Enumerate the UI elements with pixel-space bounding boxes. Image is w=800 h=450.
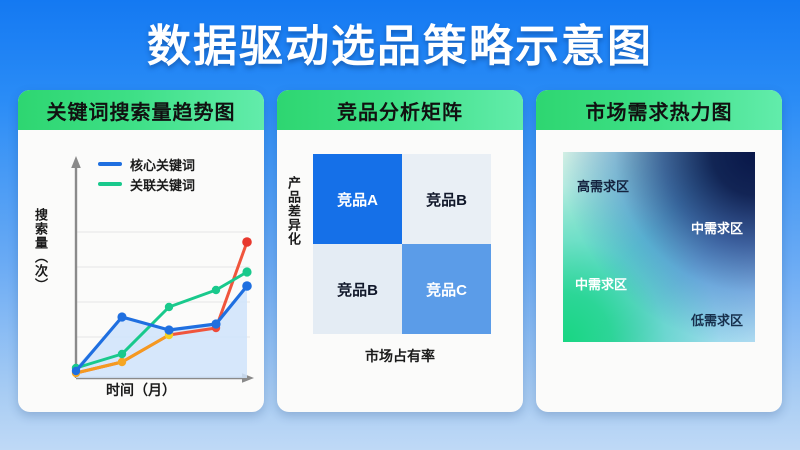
line-chart: 核心关键词 关联关键词 搜索量（次） 时间（月）	[18, 130, 264, 412]
legend-swatch-related-icon	[98, 182, 122, 186]
chart-y-axis-label: 搜索量（次）	[32, 208, 50, 292]
matrix-y-axis-label: 产品差异化	[285, 176, 303, 246]
page-title: 数据驱动选品策略示意图	[0, 10, 800, 74]
chart-legend: 核心关键词 关联关键词	[98, 154, 195, 194]
matrix-cell-top-left-label: 竞品A	[337, 189, 378, 210]
matrix-chart: 竞品A 竞品B 竞品B 竞品C 产品差异化 市场占有率	[277, 130, 523, 412]
heatmap-label-medium-demand-left: 中需求区	[575, 274, 627, 293]
card-demand-heatmap-header: 市场需求热力图	[536, 90, 782, 130]
cards-row: 关键词搜索量趋势图	[18, 90, 782, 412]
card-demand-heatmap: 市场需求热力图 高需求区 中需求区 中需求区 低需求区	[536, 90, 782, 412]
legend-label-related: 关联关键词	[130, 175, 195, 194]
heatmap-label-low-demand: 低需求区	[691, 310, 743, 329]
legend-item-core: 核心关键词	[98, 154, 195, 174]
matrix-grid: 竞品A 竞品B 竞品B 竞品C	[313, 154, 491, 334]
legend-label-core: 核心关键词	[130, 155, 195, 174]
card-keyword-trend-header: 关键词搜索量趋势图	[18, 90, 264, 130]
card-demand-heatmap-body: 高需求区 中需求区 中需求区 低需求区	[536, 130, 782, 412]
card-keyword-trend: 关键词搜索量趋势图	[18, 90, 264, 412]
card-competitor-matrix: 竞品分析矩阵 竞品A 竞品B 竞品B 竞品C 产	[277, 90, 523, 412]
chart-area-fill	[76, 286, 247, 378]
heatmap-surface: 高需求区 中需求区 中需求区 低需求区	[563, 152, 755, 342]
matrix-cell-top-left[interactable]: 竞品A	[313, 154, 402, 244]
matrix-x-axis-label: 市场占有率	[277, 346, 523, 366]
matrix-cell-bottom-right[interactable]: 竞品C	[402, 244, 491, 334]
heatmap-label-medium-demand-right: 中需求区	[691, 218, 743, 237]
card-keyword-trend-body: 核心关键词 关联关键词 搜索量（次） 时间（月）	[18, 130, 264, 412]
card-competitor-matrix-body: 竞品A 竞品B 竞品B 竞品C 产品差异化 市场占有率	[277, 130, 523, 412]
card-competitor-matrix-header: 竞品分析矩阵	[277, 90, 523, 130]
heatmap-chart: 高需求区 中需求区 中需求区 低需求区	[536, 130, 782, 412]
legend-item-related: 关联关键词	[98, 174, 195, 194]
chart-x-axis-label: 时间（月）	[18, 380, 264, 400]
matrix-cell-bottom-left-label: 竞品B	[337, 279, 378, 300]
matrix-cell-bottom-right-label: 竞品C	[426, 279, 467, 300]
matrix-cell-bottom-left[interactable]: 竞品B	[313, 244, 402, 334]
matrix-cell-top-right-label: 竞品B	[426, 189, 467, 210]
matrix-cell-top-right[interactable]: 竞品B	[402, 154, 491, 244]
heatmap-label-high-demand: 高需求区	[577, 176, 629, 195]
legend-swatch-core-icon	[98, 162, 122, 166]
